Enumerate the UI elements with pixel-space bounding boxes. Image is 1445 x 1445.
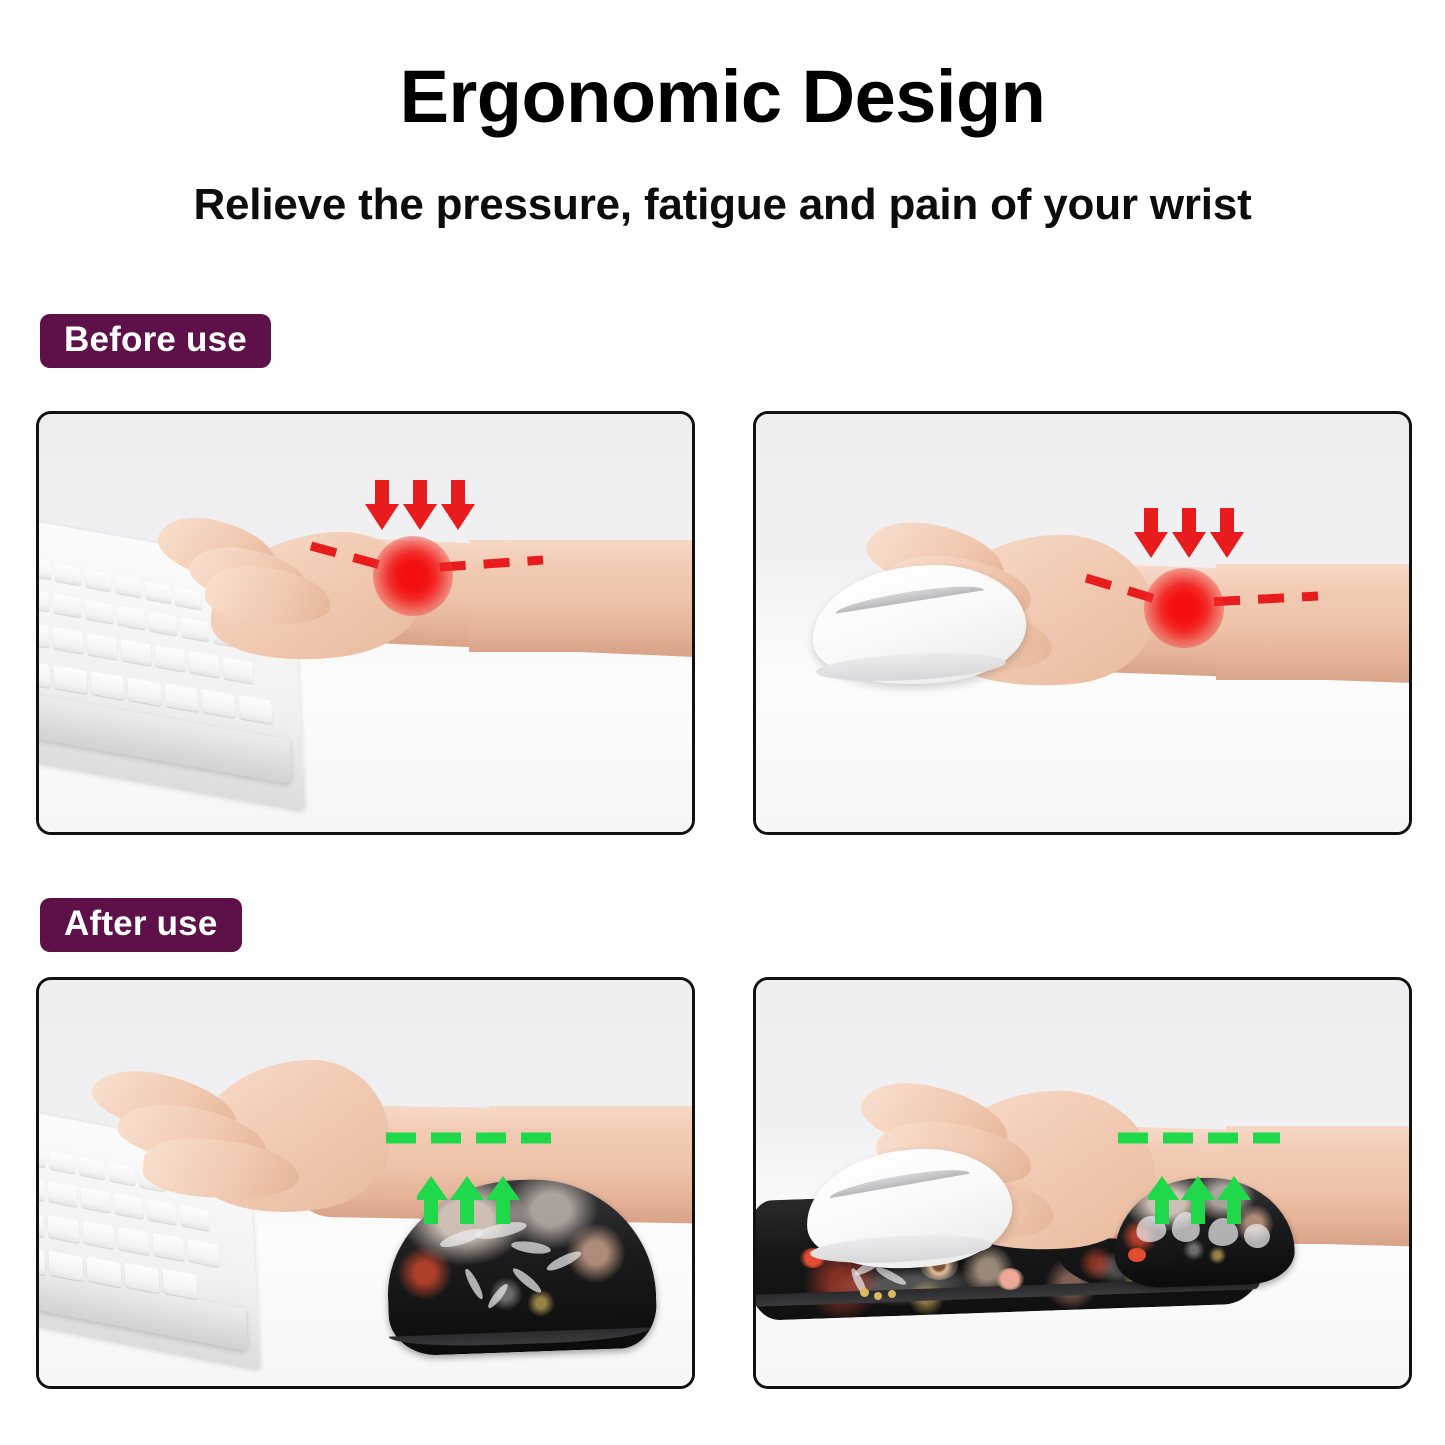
arrow-up-icon [417, 1176, 520, 1224]
panel-before-mouse [753, 411, 1412, 835]
page-title: Ergonomic Design [0, 58, 1445, 136]
page-subtitle: Relieve the pressure, fatigue and pain o… [0, 180, 1445, 230]
alignment-dashed-line [1116, 1128, 1282, 1148]
pressure-arrows-down [1126, 508, 1244, 560]
arrow-down-icon [365, 480, 475, 530]
section-badge-before-use: Before use [40, 314, 271, 368]
infographic-page: Ergonomic Design Relieve the pressure, f… [0, 0, 1445, 1445]
arrow-down-icon [1134, 508, 1244, 558]
scene-after-mouse [756, 980, 1409, 1386]
support-arrows-up [417, 1176, 525, 1226]
pain-spot-glow [373, 536, 453, 616]
section-badge-after-use: After use [40, 898, 242, 952]
alignment-dashed-line [384, 1128, 554, 1148]
pain-spot-glow [1144, 568, 1224, 648]
panel-after-mousepad-wrist-rest [753, 977, 1412, 1389]
scene-after-keyboard [39, 980, 692, 1386]
support-arrows-up [1148, 1176, 1256, 1226]
scene-before-mouse [756, 414, 1409, 832]
pressure-arrows-down [357, 480, 475, 532]
panel-before-keyboard [36, 411, 695, 835]
scene-before-keyboard [39, 414, 692, 832]
arrow-up-icon [1148, 1176, 1251, 1224]
panel-after-keyboard-wrist-rest [36, 977, 695, 1389]
